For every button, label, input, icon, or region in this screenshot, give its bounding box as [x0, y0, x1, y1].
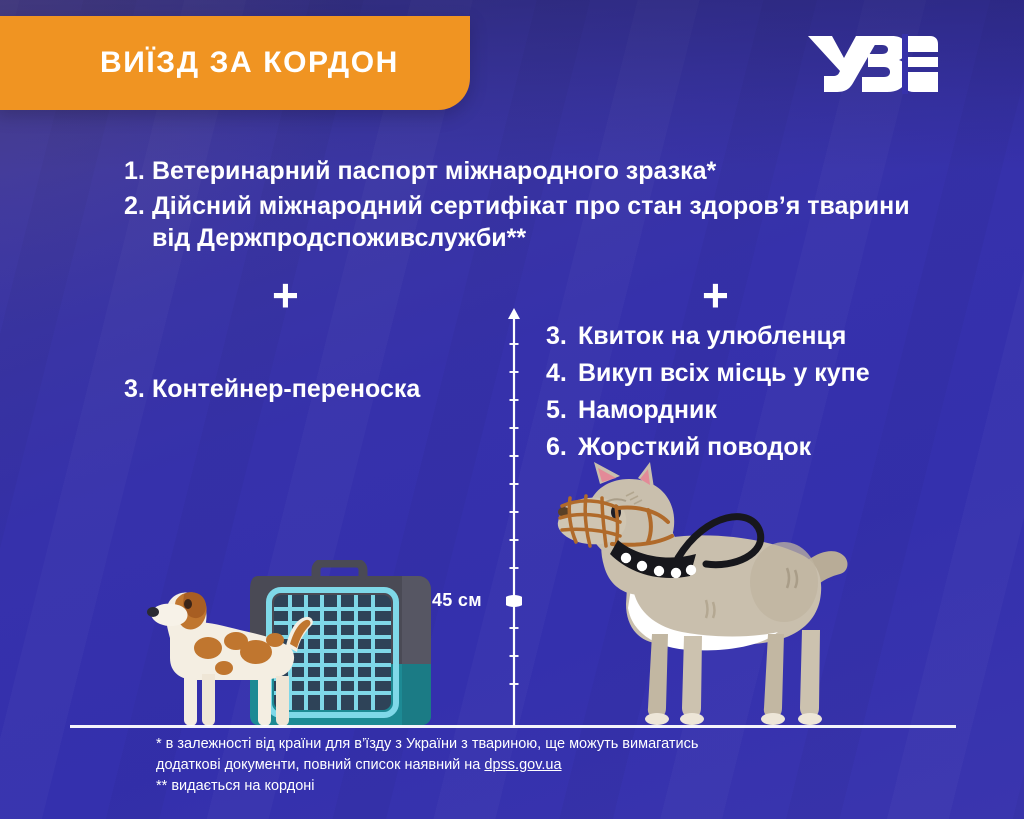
- page-title: ВИЇЗД ЗА КОРДОН: [0, 46, 399, 80]
- list-item: 4. Викуп всіх місць у купе: [546, 355, 870, 392]
- list-item: 2. Дійсний міжнародний сертифікат про ст…: [124, 190, 924, 254]
- list-item-label: Квиток на улюбленця: [578, 318, 846, 355]
- footnote-line-3: ** видається на кордоні: [156, 776, 856, 797]
- title-banner: ВИЇЗД ЗА КОРДОН: [0, 16, 470, 110]
- list-item-label: Жорсткий поводок: [578, 429, 811, 466]
- list-item-number: 3.: [124, 375, 152, 404]
- list-item: 5. Намордник: [546, 392, 870, 429]
- pet-carrier-illustration: [140, 560, 440, 732]
- list-item-number: 3.: [546, 318, 578, 355]
- list-item-number: 5.: [546, 392, 578, 429]
- infographic-page: ВИЇЗД ЗА КОРДОН 1. Ветеринарний паспорт …: [0, 0, 1024, 819]
- list-item-number: 6.: [546, 429, 578, 466]
- ground-line: [70, 725, 956, 728]
- list-item-number: 2.: [124, 190, 152, 254]
- list-item: 6. Жорсткий поводок: [546, 429, 870, 466]
- list-item: 3. Квиток на улюбленця: [546, 318, 870, 355]
- list-item-label: Викуп всіх місць у купе: [578, 355, 870, 392]
- large-muzzled-dog-illustration: [556, 462, 886, 730]
- list-item-label: Ветеринарний паспорт міжнародного зразка…: [152, 155, 716, 187]
- large-pet-requirements-list: 3. Квиток на улюбленця 4. Викуп всіх міс…: [546, 318, 870, 466]
- dpss-link[interactable]: dpss.gov.ua: [484, 757, 561, 773]
- list-item-number: 1.: [124, 155, 152, 187]
- plus-sign-left: +: [272, 272, 299, 318]
- plus-sign-right: +: [702, 272, 729, 318]
- footnotes: * в залежності від країни для в’їзду з У…: [156, 734, 856, 797]
- uz-logo: [806, 30, 940, 94]
- footnote-line-2-prefix: додаткові документи, повний список наявн…: [156, 757, 484, 773]
- list-item: 1. Ветеринарний паспорт міжнародного зра…: [124, 155, 924, 187]
- list-item-label: Дійсний міжнародний сертифікат про стан …: [152, 190, 924, 254]
- small-pet-requirement: 3. Контейнер-переноска: [124, 375, 420, 404]
- height-ruler: [506, 308, 522, 728]
- footnote-line-2: додаткові документи, повний список наявн…: [156, 755, 856, 776]
- list-item-number: 4.: [546, 355, 578, 392]
- list-item-label: Контейнер-переноска: [152, 375, 420, 404]
- list-item-label: Намордник: [578, 392, 717, 429]
- footnote-line-1: * в залежності від країни для в’їзду з У…: [156, 734, 856, 755]
- main-requirements-list: 1. Ветеринарний паспорт міжнародного зра…: [124, 155, 924, 257]
